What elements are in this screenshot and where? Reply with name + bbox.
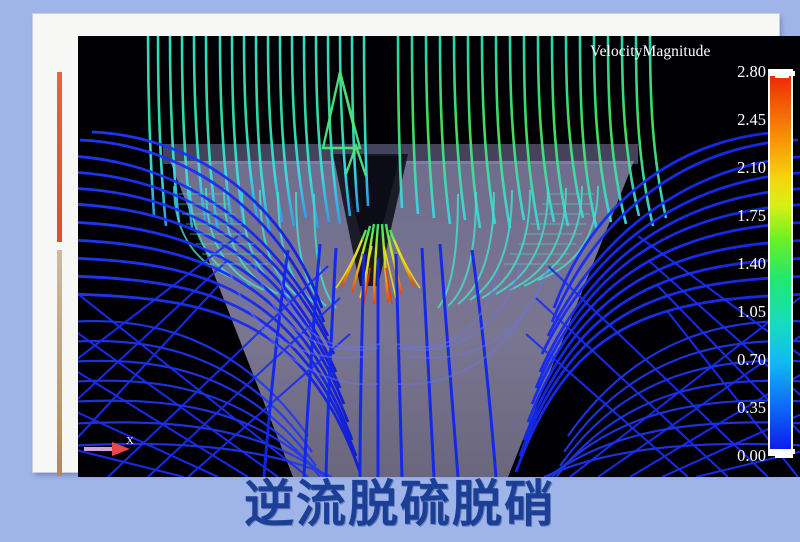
- screenshot-root: X VelocityMagnitude 2.80 2.45 2.10 1.75 …: [0, 0, 800, 542]
- legend-tick-5: 1.05: [714, 302, 766, 322]
- axis-arrow-icon: [82, 432, 152, 466]
- legend-tick-7: 0.35: [714, 398, 766, 418]
- color-legend: VelocityMagnitude 2.80 2.45 2.10 1.75 1.…: [723, 36, 800, 477]
- legend-tick-3: 1.75: [714, 206, 766, 226]
- legend-tick-8: 0.00: [714, 446, 766, 466]
- figure-frame: X VelocityMagnitude 2.80 2.45 2.10 1.75 …: [33, 14, 779, 472]
- legend-tick-6: 0.70: [714, 350, 766, 370]
- legend-tick-2: 2.10: [714, 158, 766, 178]
- legend-cap-bottom: [770, 449, 795, 454]
- legend-colorbar: [768, 69, 793, 456]
- legend-tick-labels: 2.80 2.45 2.10 1.75 1.40 1.05 0.70 0.35 …: [714, 62, 766, 454]
- legend-tick-4: 1.40: [714, 254, 766, 274]
- streamline-plot: [78, 36, 800, 477]
- legend-title: VelocityMagnitude: [590, 43, 800, 61]
- axis-orientation-indicator: X: [82, 432, 152, 466]
- legend-range-min-tick: [775, 456, 793, 458]
- cfd-visualization-canvas: X VelocityMagnitude 2.80 2.45 2.10 1.75 …: [78, 36, 800, 477]
- left-border-strip-lower: [57, 250, 62, 476]
- axis-x-label: X: [126, 435, 134, 447]
- legend-tick-0: 2.80: [714, 62, 766, 82]
- left-border-strip-upper: [57, 72, 62, 242]
- legend-range-max-tick: [775, 76, 789, 78]
- legend-gradient-bar: [768, 69, 793, 456]
- legend-tick-1: 2.45: [714, 110, 766, 130]
- caption-text: 逆流脱硫脱硝: [0, 474, 800, 534]
